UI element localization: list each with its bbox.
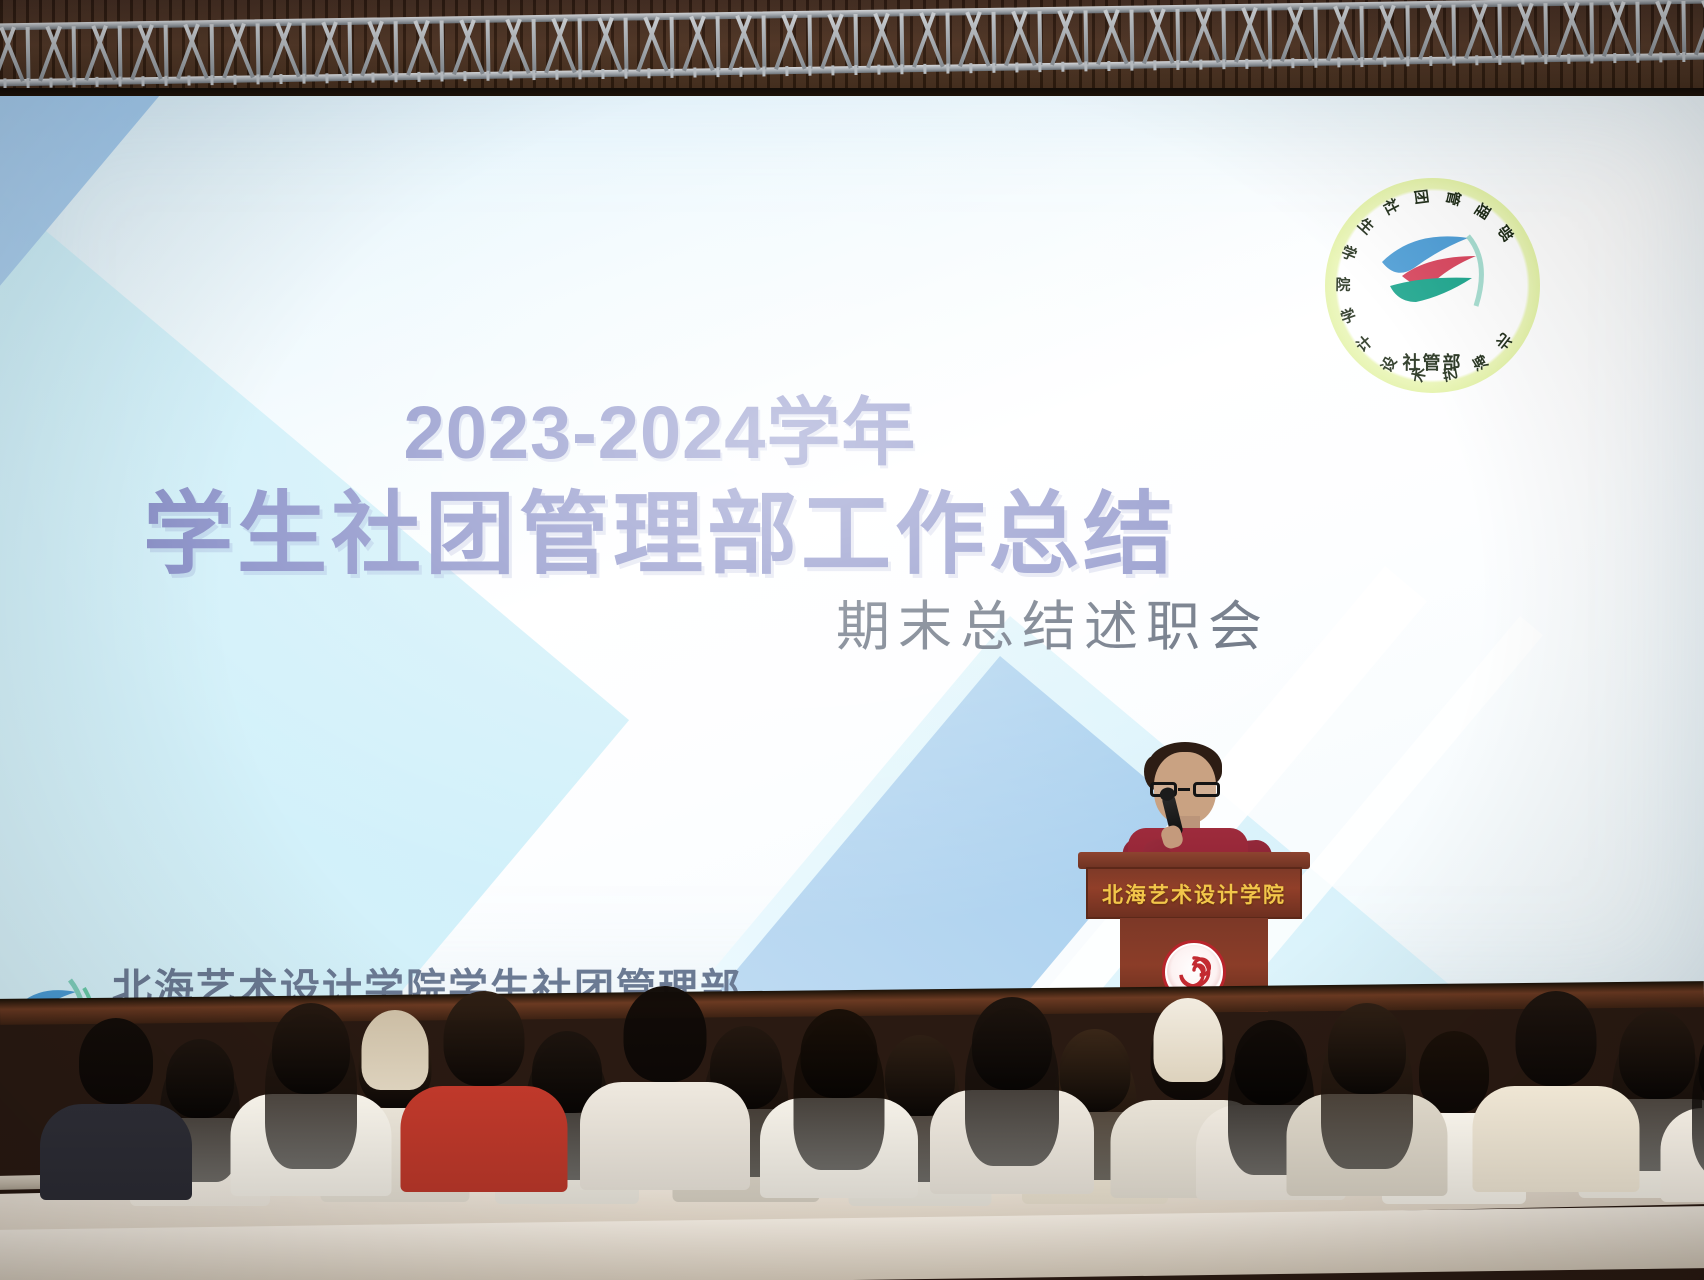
audience-member xyxy=(930,997,1094,1194)
audience-member xyxy=(1472,991,1639,1192)
emblem-center-text: 社管部 xyxy=(1325,349,1540,375)
audience-member xyxy=(230,1003,391,1196)
audience-head xyxy=(272,1003,350,1094)
audience-shoulders xyxy=(400,1086,567,1192)
podium-face: 北海艺术设计学院 xyxy=(1086,867,1302,919)
slide-title-block: 2023-2024学年 学生社团管理部工作总结 xyxy=(0,396,1320,583)
audience-head xyxy=(972,997,1052,1090)
audience-shoulders xyxy=(40,1104,192,1200)
slide-subtitle: 期末总结述职会 xyxy=(0,582,1270,661)
audience-head xyxy=(1515,991,1596,1086)
audience-shoulders xyxy=(1472,1086,1639,1192)
audience-member xyxy=(760,1009,918,1198)
audience-foreground xyxy=(0,960,1704,1280)
slide-title-year: 2023-2024学年 xyxy=(0,396,1320,470)
audience-member xyxy=(580,986,750,1190)
podium-engraved-text: 北海艺术设计学院 xyxy=(1088,879,1300,909)
club-emblem: 北海艺术设计学院学生社团管理部 社管部 xyxy=(1325,178,1540,393)
audience-member xyxy=(400,991,567,1192)
projection-screen: 北海艺术设计学院学生社团管理部 社管部 2023-2024学年 学生社团管理部工… xyxy=(0,96,1704,1002)
auditorium-photo: 北海艺术设计学院学生社团管理部 社管部 2023-2024学年 学生社团管理部工… xyxy=(0,0,1704,1280)
slide-title-main: 学生社团管理部工作总结 xyxy=(0,488,1320,583)
audience-head xyxy=(1328,1003,1406,1094)
audience-shoulders xyxy=(580,1082,750,1190)
audience-member xyxy=(1286,1003,1447,1196)
audience-head xyxy=(801,1009,878,1098)
audience-head xyxy=(443,991,524,1086)
audience-member xyxy=(1660,1024,1704,1202)
emblem-swoosh-icon xyxy=(1372,222,1494,322)
audience-head xyxy=(624,986,707,1082)
audience-member xyxy=(40,1018,192,1200)
audience-head xyxy=(79,1018,153,1104)
